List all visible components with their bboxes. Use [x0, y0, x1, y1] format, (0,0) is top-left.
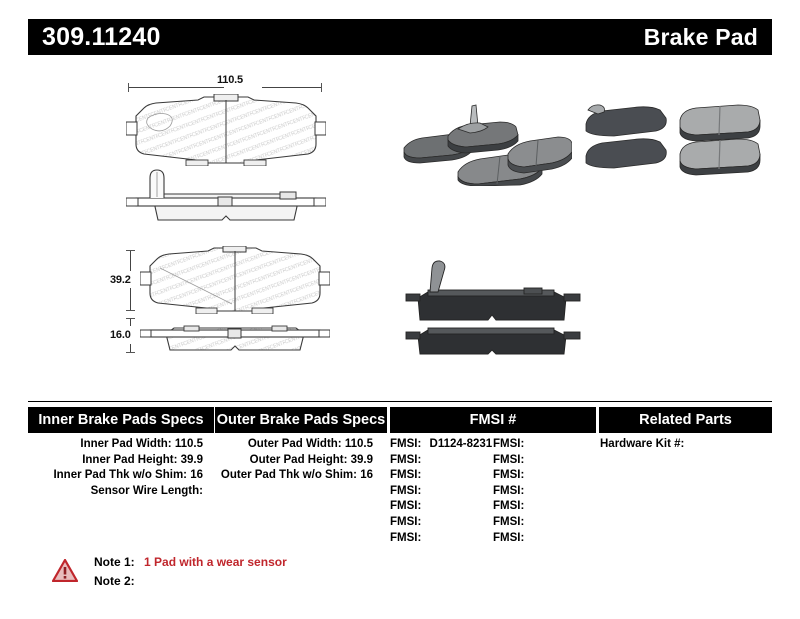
fmsi-label: FMSI:: [493, 485, 524, 497]
dimension-width-label: 110.5: [217, 74, 243, 86]
spec-label: Inner Pad Height:: [82, 454, 177, 466]
inner-specs-column: Inner Pad Width: 110.5 Inner Pad Height:…: [28, 437, 214, 499]
title-bar: 309.11240 Brake Pad: [28, 19, 772, 55]
note-row: Note 1: 1 Pad with a wear sensor: [94, 553, 287, 572]
spec-table-top-rule: [28, 401, 772, 404]
fmsi-row: FMSI: D1124-8231: [390, 437, 493, 453]
dimension-height-tick-bottom: [126, 310, 135, 311]
dimension-height-label: 39.2: [110, 274, 131, 286]
fmsi-row: FMSI:: [493, 499, 596, 515]
fmsi-label: FMSI:: [493, 516, 524, 528]
spec-value: 39.9: [181, 454, 203, 466]
fmsi-label: FMSI:: [493, 438, 524, 450]
note-row: Note 2:: [94, 572, 287, 591]
fmsi-sub-column-right: FMSI: FMSI: FMSI: FMSI: FMSI: FMSI:: [493, 437, 596, 546]
dimension-height-tick-top: [126, 250, 135, 251]
dimension-width-line: [128, 87, 224, 88]
part-number: 309.11240: [42, 25, 161, 50]
spec-row: Inner Pad Width: 110.5: [28, 437, 214, 453]
spec-value: 39.9: [351, 454, 373, 466]
fmsi-label: FMSI:: [493, 469, 524, 481]
fmsi-value: D1124-8231: [430, 438, 493, 450]
warning-triangle-icon: [52, 559, 78, 582]
dimension-thickness-line-lower: [130, 344, 131, 352]
spec-row: Sensor Wire Length:: [28, 484, 214, 500]
spec-label: Inner Pad Thk w/o Shim:: [53, 469, 187, 481]
brake-pad-set-angled-photo: [396, 96, 572, 186]
drawing-area: 110.5 CENTRIC 39.2: [0, 60, 800, 390]
fmsi-label: FMSI:: [493, 500, 524, 512]
related-parts-label: Hardware Kit #:: [600, 438, 684, 450]
fmsi-label: FMSI:: [390, 485, 421, 497]
pad-side-profile-with-sensor: [126, 168, 326, 230]
fmsi-row: FMSI:: [493, 453, 596, 469]
product-type-label: Brake Pad: [644, 26, 758, 49]
fmsi-label: FMSI:: [493, 454, 524, 466]
column-header-related-parts: Related Parts: [599, 407, 772, 433]
pad-edge-thickness-view: [140, 318, 330, 354]
column-header-inner-specs: Inner Brake Pads Specs: [28, 407, 214, 433]
dimension-width-tick-left: [128, 83, 129, 92]
fmsi-label: FMSI:: [390, 516, 421, 528]
fmsi-label: FMSI:: [493, 532, 524, 544]
spec-row: Outer Pad Height: 39.9: [215, 453, 387, 469]
fmsi-label: FMSI:: [390, 532, 421, 544]
spec-row: Outer Pad Width: 110.5: [215, 437, 387, 453]
dimension-thickness-tick-top: [126, 318, 135, 319]
fmsi-label: FMSI:: [390, 469, 421, 481]
fmsi-row: FMSI:: [390, 453, 493, 469]
pad-plan-view-top: CENTRIC: [126, 94, 326, 166]
note-lines: Note 1: 1 Pad with a wear sensor Note 2:: [94, 553, 287, 591]
outer-specs-column: Outer Pad Width: 110.5 Outer Pad Height:…: [215, 437, 387, 484]
column-header-outer-specs: Outer Brake Pads Specs: [215, 407, 387, 433]
related-parts-column: Hardware Kit #:: [600, 437, 780, 453]
spec-label: Outer Pad Width:: [248, 438, 342, 450]
spec-value: 16: [190, 469, 203, 481]
note-label: Note 1:: [94, 555, 135, 569]
fmsi-row: FMSI:: [493, 484, 596, 500]
spec-row: Inner Pad Height: 39.9: [28, 453, 214, 469]
dimension-height-line: [130, 250, 131, 271]
spec-value: 110.5: [175, 438, 203, 450]
spec-value: 16: [360, 469, 373, 481]
fmsi-label: FMSI:: [390, 500, 421, 512]
note-label: Note 2:: [94, 574, 135, 588]
fmsi-row: FMSI:: [390, 468, 493, 484]
pad-plan-view-height: [140, 246, 330, 314]
fmsi-row: FMSI:: [493, 531, 596, 547]
fmsi-row: FMSI:: [493, 515, 596, 531]
spec-table-header-row: Inner Brake Pads Specs Outer Brake Pads …: [28, 407, 772, 433]
fmsi-column: FMSI: D1124-8231 FMSI: FMSI: FMSI: FMSI:…: [390, 437, 596, 546]
fmsi-row: FMSI:: [390, 499, 493, 515]
note-value: 1 Pad with a wear sensor: [144, 555, 287, 569]
fmsi-row: FMSI:: [390, 531, 493, 547]
spec-label: Sensor Wire Length:: [91, 485, 203, 497]
brake-pad-pair-profile-photo: [404, 258, 584, 358]
dimension-width-tick-right: [321, 83, 322, 92]
spec-row: Outer Pad Thk w/o Shim: 16: [215, 468, 387, 484]
dimension-height-line-lower: [130, 288, 131, 310]
fmsi-sub-column-left: FMSI: D1124-8231 FMSI: FMSI: FMSI: FMSI:…: [390, 437, 493, 546]
spec-row: Inner Pad Thk w/o Shim: 16: [28, 468, 214, 484]
dimension-width-line-right: [262, 87, 321, 88]
fmsi-label: FMSI:: [390, 454, 421, 466]
spec-label: Inner Pad Width:: [80, 438, 171, 450]
brake-pad-set-grid-photo: [580, 98, 762, 186]
spec-value: 110.5: [345, 438, 373, 450]
dimension-thickness-tick-bottom: [126, 352, 135, 353]
related-parts-row: Hardware Kit #:: [600, 437, 780, 453]
fmsi-label: FMSI:: [390, 438, 421, 450]
fmsi-row: FMSI:: [493, 437, 596, 453]
dimension-thickness-label: 16.0: [110, 329, 131, 341]
fmsi-row: FMSI:: [390, 515, 493, 531]
column-header-fmsi: FMSI #: [390, 407, 596, 433]
dimension-thickness-line: [130, 318, 131, 326]
spec-label: Outer Pad Thk w/o Shim:: [221, 469, 357, 481]
fmsi-row: FMSI:: [390, 484, 493, 500]
fmsi-row: FMSI:: [493, 468, 596, 484]
spec-label: Outer Pad Height:: [250, 454, 348, 466]
